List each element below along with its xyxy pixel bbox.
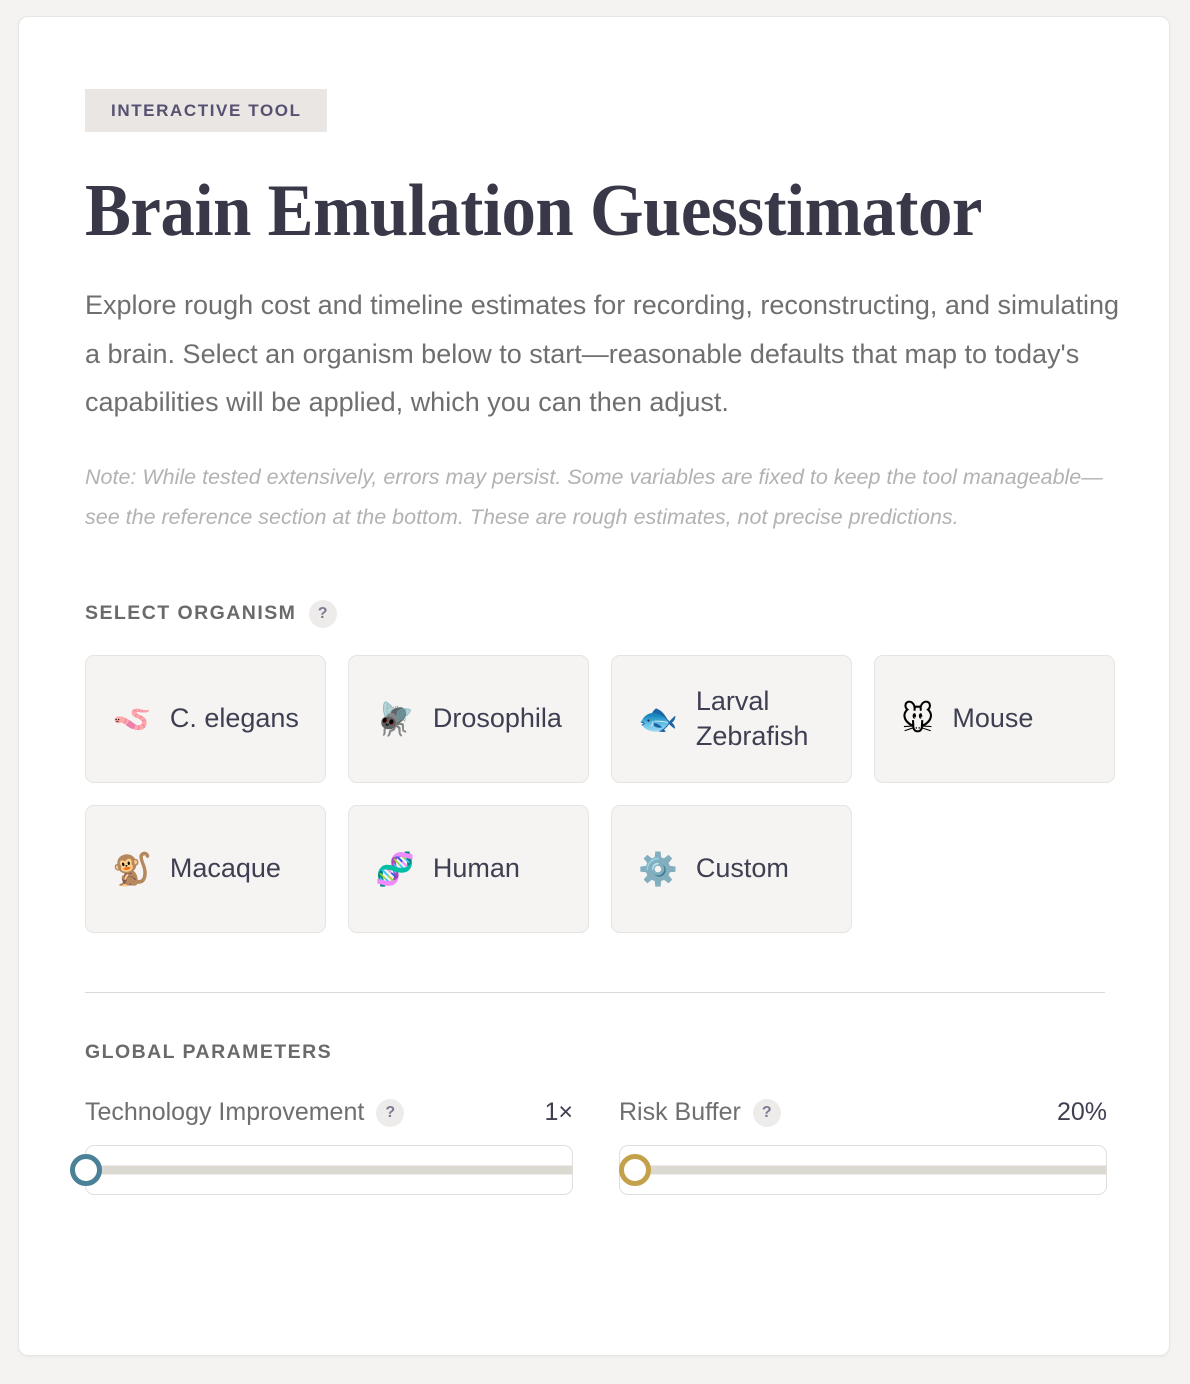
parameter-label: Technology Improvement bbox=[85, 1098, 364, 1127]
global-parameters-label: GLOBAL PARAMETERS bbox=[85, 1041, 1121, 1064]
slider-thumb[interactable] bbox=[70, 1154, 102, 1186]
organism-option-mouse[interactable]: 🐭 Mouse bbox=[874, 655, 1115, 783]
help-icon-risk-buffer[interactable]: ? bbox=[753, 1099, 781, 1127]
organism-option-label: Larval Zebrafish bbox=[696, 684, 829, 753]
organism-option-label: Custom bbox=[696, 851, 789, 886]
parameter-value: 1× bbox=[544, 1098, 573, 1127]
organism-option-drosophila[interactable]: 🪰 Drosophila bbox=[348, 655, 589, 783]
section-divider bbox=[85, 992, 1105, 993]
slider-thumb[interactable] bbox=[619, 1154, 651, 1186]
gear-icon: ⚙️ bbox=[638, 853, 678, 885]
monkey-icon: 🐒 bbox=[112, 853, 152, 885]
select-organism-label: SELECT ORGANISM ? bbox=[85, 600, 1121, 628]
parameter-technology-improvement: Technology Improvement ? 1× bbox=[85, 1098, 573, 1195]
page-title: Brain Emulation Guesstimator bbox=[85, 174, 1048, 249]
parameter-value: 20% bbox=[1057, 1098, 1107, 1127]
organism-option-label: Macaque bbox=[170, 851, 281, 886]
global-parameters-row: Technology Improvement ? 1× Risk Buffer … bbox=[85, 1098, 1121, 1195]
page-background: INTERACTIVE TOOL Brain Emulation Guessti… bbox=[0, 0, 1190, 1384]
parameter-risk-buffer: Risk Buffer ? 20% bbox=[619, 1098, 1107, 1195]
organism-option-label: Drosophila bbox=[433, 701, 562, 736]
fish-icon: 🐟 bbox=[638, 703, 678, 735]
disclaimer-note: Note: While tested extensively, errors m… bbox=[85, 458, 1105, 538]
parameter-label: Risk Buffer bbox=[619, 1098, 741, 1127]
tool-card: INTERACTIVE TOOL Brain Emulation Guessti… bbox=[18, 16, 1170, 1356]
organism-option-custom[interactable]: ⚙️ Custom bbox=[611, 805, 852, 933]
slider-track bbox=[620, 1165, 1106, 1174]
interactive-tool-badge: INTERACTIVE TOOL bbox=[85, 89, 327, 132]
organism-option-label: Mouse bbox=[952, 701, 1033, 736]
organism-option-macaque[interactable]: 🐒 Macaque bbox=[85, 805, 326, 933]
intro-paragraph: Explore rough cost and timeline estimate… bbox=[85, 281, 1120, 425]
fly-icon: 🪰 bbox=[375, 703, 415, 735]
dna-icon: 🧬 bbox=[375, 853, 415, 885]
organism-option-label: C. elegans bbox=[170, 701, 299, 736]
organism-grid: 🪱 C. elegans 🪰 Drosophila 🐟 Larval Zebra… bbox=[85, 655, 1121, 933]
slider-technology-improvement[interactable] bbox=[85, 1145, 573, 1195]
worm-icon: 🪱 bbox=[112, 703, 152, 735]
organism-option-larval-zebrafish[interactable]: 🐟 Larval Zebrafish bbox=[611, 655, 852, 783]
select-organism-label-text: SELECT ORGANISM bbox=[85, 602, 296, 625]
parameter-header: Technology Improvement ? 1× bbox=[85, 1098, 573, 1128]
organism-option-human[interactable]: 🧬 Human bbox=[348, 805, 589, 933]
slider-risk-buffer[interactable] bbox=[619, 1145, 1107, 1195]
organism-option-c-elegans[interactable]: 🪱 C. elegans bbox=[85, 655, 326, 783]
parameter-header: Risk Buffer ? 20% bbox=[619, 1098, 1107, 1128]
help-icon-organism[interactable]: ? bbox=[309, 600, 337, 628]
mouse-icon: 🐭 bbox=[901, 703, 934, 735]
help-icon-technology-improvement[interactable]: ? bbox=[376, 1099, 404, 1127]
organism-option-label: Human bbox=[433, 851, 520, 886]
slider-track bbox=[86, 1165, 572, 1174]
